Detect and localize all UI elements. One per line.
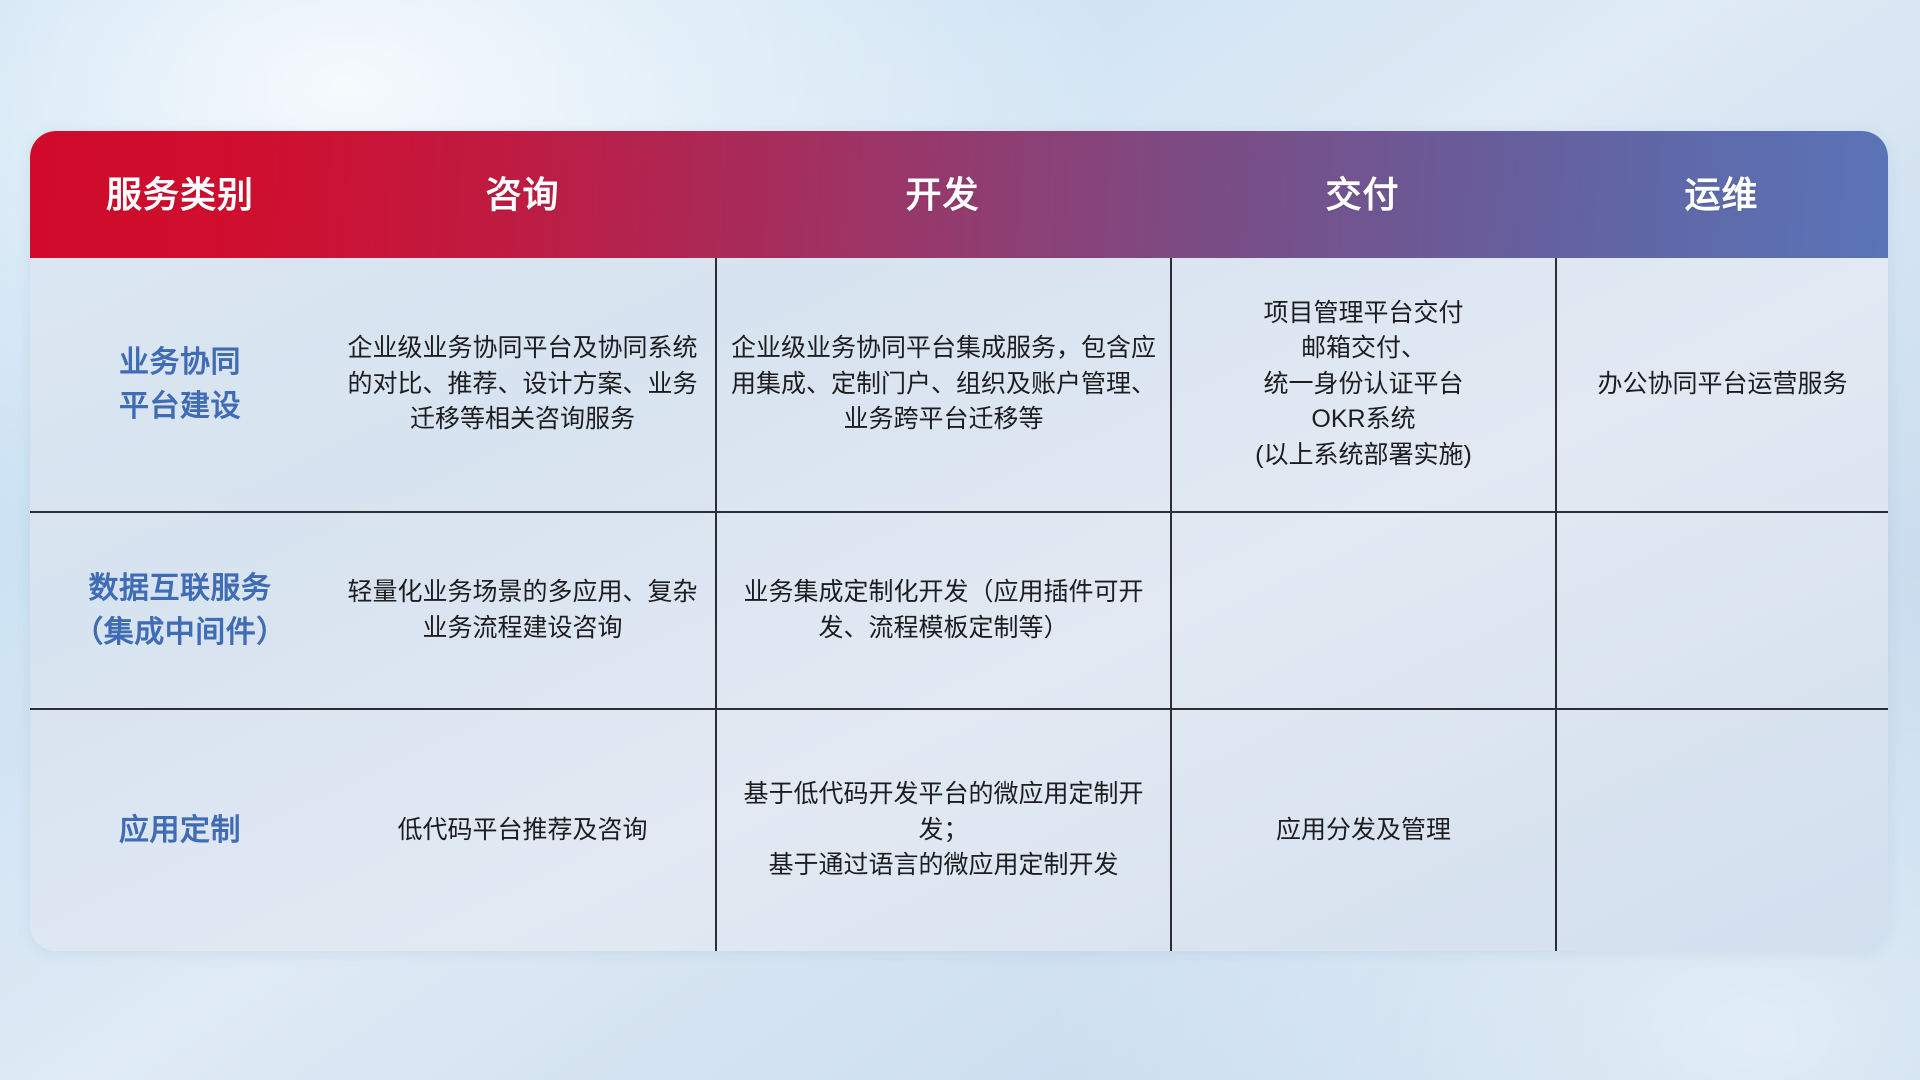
cell-consulting: 低代码平台推荐及咨询 [330,710,715,951]
table-header-row: 服务类别 咨询 开发 交付 运维 [30,131,1888,258]
cell-category: 数据互联服务 （集成中间件） [30,513,330,708]
cell-delivery: 项目管理平台交付 邮箱交付、 统一身份认证平台 OKR系统 (以上系统部署实施) [1170,258,1555,511]
cell-consulting: 企业级业务协同平台及协同系统的对比、推荐、设计方案、业务迁移等相关咨询服务 [330,258,715,511]
table-row: 业务协同 平台建设 企业级业务协同平台及协同系统的对比、推荐、设计方案、业务迁移… [30,258,1888,511]
column-header-category: 服务类别 [30,175,330,215]
cell-delivery: 应用分发及管理 [1170,710,1555,951]
cell-delivery [1170,513,1555,708]
cell-category: 应用定制 [30,710,330,951]
table-body: 业务协同 平台建设 企业级业务协同平台及协同系统的对比、推荐、设计方案、业务迁移… [30,258,1888,951]
cell-operations [1555,513,1888,708]
cell-category: 业务协同 平台建设 [30,258,330,511]
slide-canvas: 服务类别 咨询 开发 交付 运维 业务协同 平台建设 企业级业务协同平台及协同系… [0,0,1920,1080]
column-header-operations: 运维 [1555,175,1888,215]
table-row: 应用定制 低代码平台推荐及咨询 基于低代码开发平台的微应用定制开发； 基于通过语… [30,708,1888,951]
column-header-delivery: 交付 [1170,175,1555,215]
service-matrix-table: 服务类别 咨询 开发 交付 运维 业务协同 平台建设 企业级业务协同平台及协同系… [30,131,1888,951]
column-header-development: 开发 [715,175,1170,215]
cell-development: 业务集成定制化开发（应用插件可开发、流程模板定制等） [715,513,1170,708]
cell-development: 基于低代码开发平台的微应用定制开发； 基于通过语言的微应用定制开发 [715,710,1170,951]
table-row: 数据互联服务 （集成中间件） 轻量化业务场景的多应用、复杂业务流程建设咨询 业务… [30,511,1888,708]
column-header-consulting: 咨询 [330,175,715,215]
cell-operations: 办公协同平台运营服务 [1555,258,1888,511]
cell-consulting: 轻量化业务场景的多应用、复杂业务流程建设咨询 [330,513,715,708]
cell-development: 企业级业务协同平台集成服务，包含应用集成、定制门户、组织及账户管理、业务跨平台迁… [715,258,1170,511]
cell-operations [1555,710,1888,951]
